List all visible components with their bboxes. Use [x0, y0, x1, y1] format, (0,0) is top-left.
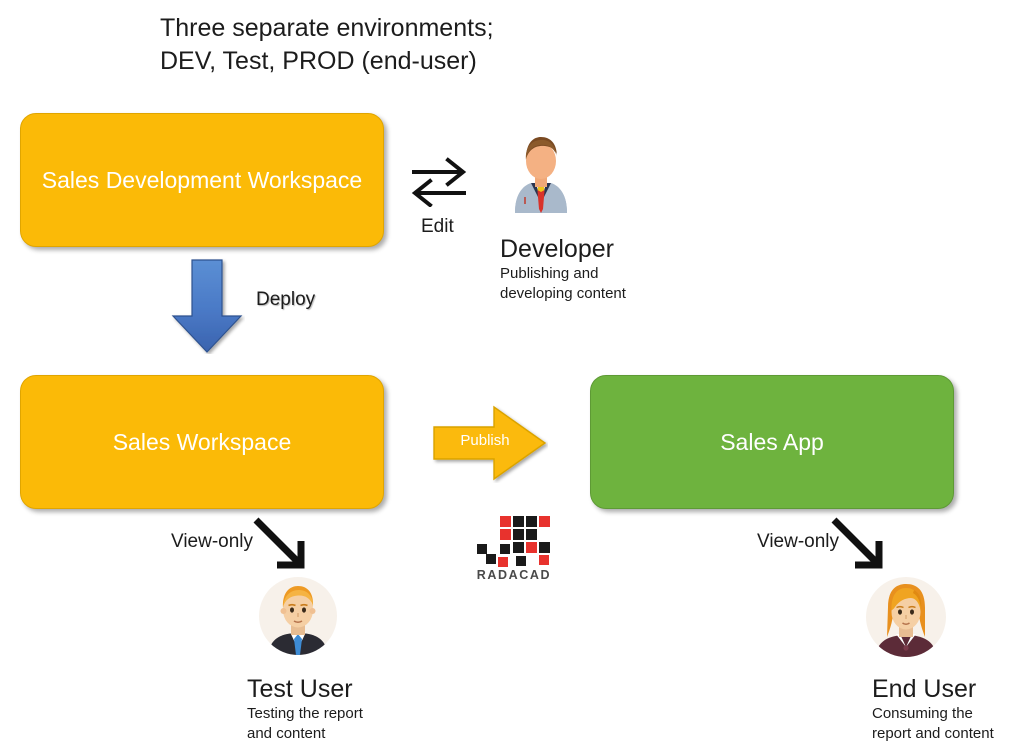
radacad-mark-icon [468, 512, 560, 570]
radacad-wordmark: RADACAD [468, 568, 560, 582]
sales-app-label: Sales App [720, 427, 824, 458]
deploy-label: Deploy [256, 289, 315, 311]
diagram-canvas: Three separate environments; DEV, Test, … [0, 0, 1024, 755]
sales-workspace-label: Sales Workspace [113, 427, 292, 458]
end-user-avatar-icon [866, 577, 946, 657]
radacad-logo: RADACAD [468, 512, 560, 592]
developer-description: Publishing and developing content [500, 264, 626, 304]
publish-right-arrow-icon [432, 403, 548, 483]
end-user-description: Consuming the report and content [872, 704, 994, 744]
edit-label: Edit [421, 216, 454, 238]
view-only-arrow-end-icon [831, 517, 893, 575]
sales-app-box[interactable]: Sales App [590, 375, 954, 509]
test-user-name: Test User [247, 674, 353, 704]
sales-development-workspace-box[interactable]: Sales Development Workspace [20, 113, 384, 247]
view-only-label-test: View-only [171, 531, 253, 553]
deploy-down-arrow-icon [169, 258, 245, 354]
test-user-avatar-icon [259, 577, 337, 655]
edit-bidirectional-arrow-icon [410, 157, 468, 207]
page-title: Three separate environments; DEV, Test, … [160, 12, 680, 78]
test-user-description: Testing the report and content [247, 704, 363, 744]
sales-development-workspace-label: Sales Development Workspace [42, 165, 362, 196]
developer-name: Developer [500, 234, 614, 264]
sales-workspace-box[interactable]: Sales Workspace [20, 375, 384, 509]
end-user-name: End User [872, 674, 976, 704]
developer-avatar-icon [509, 131, 573, 213]
view-only-arrow-test-icon [253, 517, 315, 575]
view-only-label-end: View-only [757, 531, 839, 553]
